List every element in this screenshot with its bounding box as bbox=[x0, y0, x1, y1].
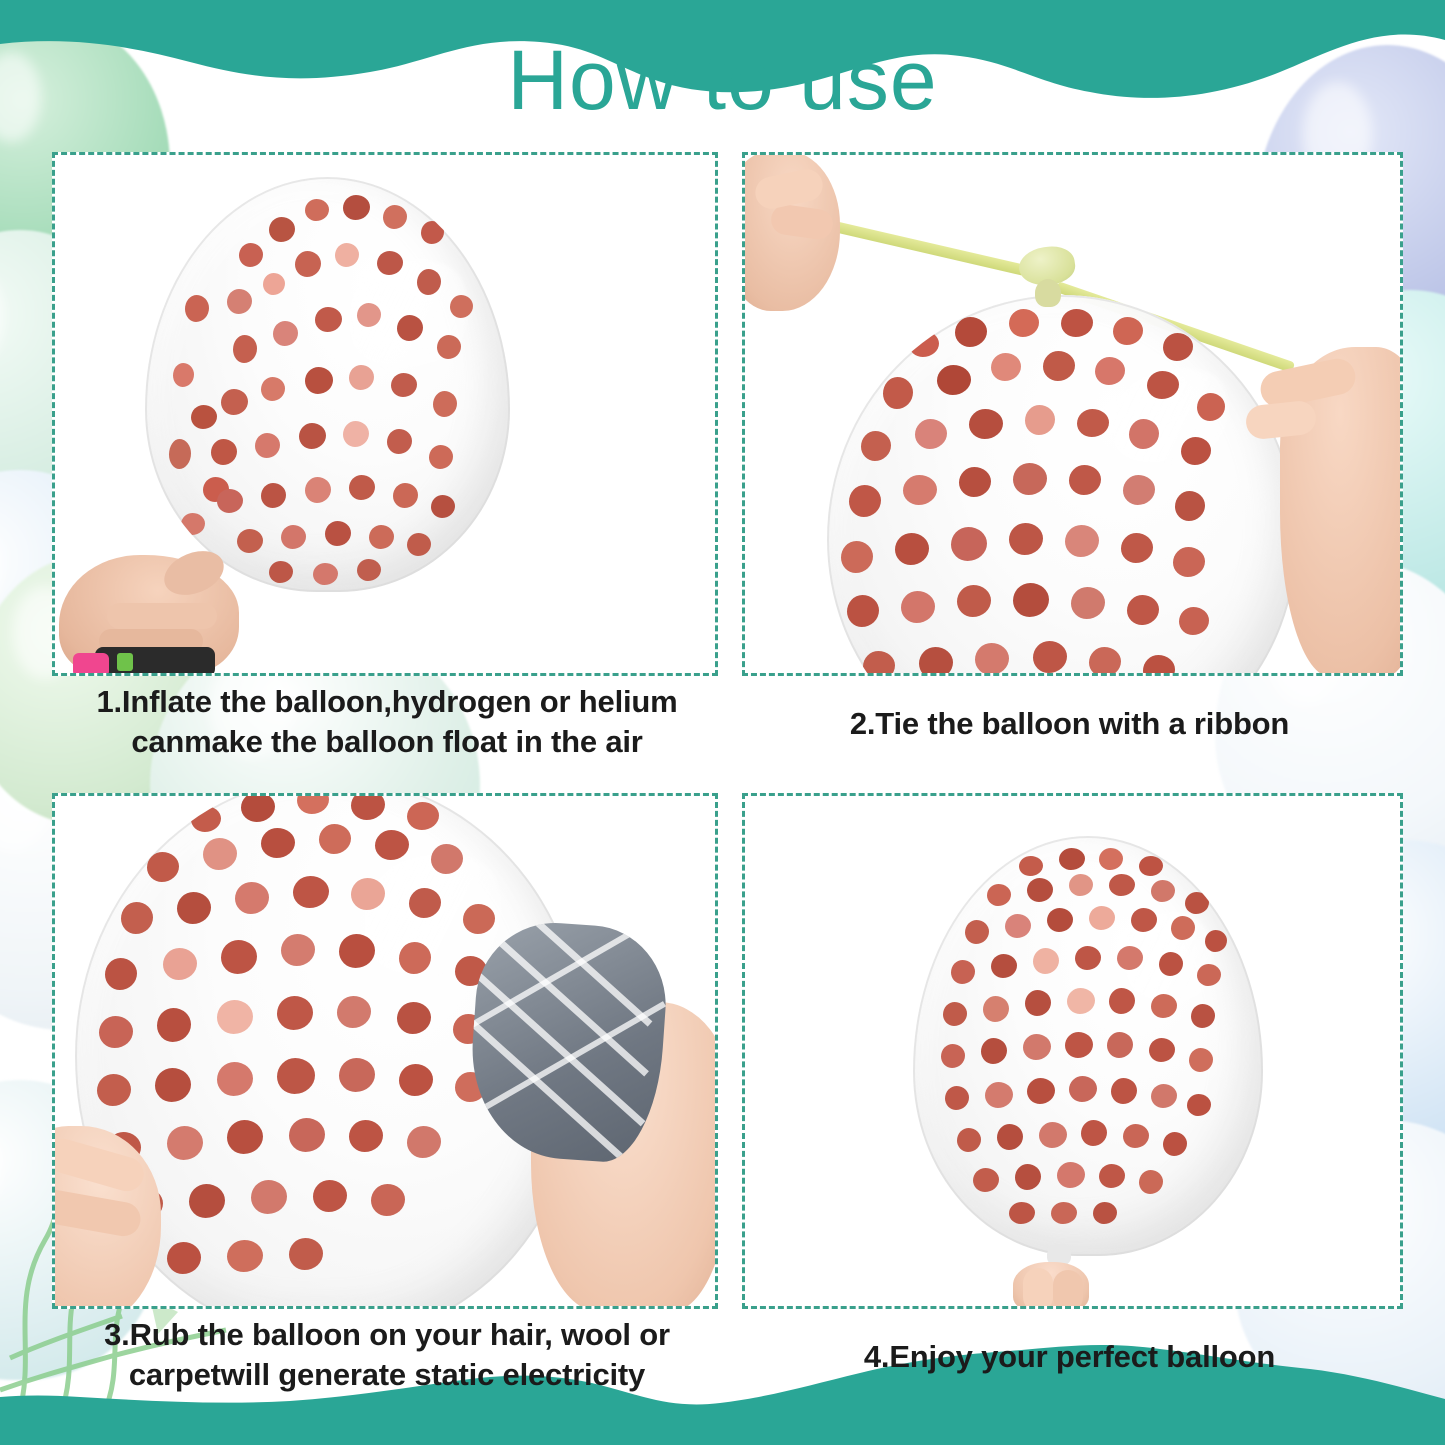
ribbon-left-segment bbox=[816, 217, 1043, 279]
confetti-balloon bbox=[827, 295, 1297, 676]
step-2-photo bbox=[742, 152, 1403, 676]
step-1-caption: 1.Inflate the balloon,hydrogen or helium… bbox=[42, 682, 732, 761]
step-4-photo bbox=[742, 793, 1403, 1309]
step-1-photo bbox=[52, 152, 718, 676]
how-to-use-infographic: How to use bbox=[0, 0, 1445, 1445]
step-1: 1.Inflate the balloon,hydrogen or helium… bbox=[52, 152, 712, 670]
balloon-neck bbox=[1035, 279, 1061, 307]
pump-accent bbox=[117, 653, 133, 671]
confetti-balloon bbox=[913, 836, 1263, 1256]
pink-grip bbox=[73, 653, 109, 676]
finger bbox=[107, 603, 217, 629]
pump-handle bbox=[95, 647, 215, 676]
step-2-caption-line-1: 2.Tie the balloon with a ribbon bbox=[742, 704, 1397, 744]
step-3-photo bbox=[52, 793, 718, 1309]
steps-grid: 1.Inflate the balloon,hydrogen or helium… bbox=[0, 0, 1445, 1445]
step-3: 3.Rub the balloon on your hair, wool or … bbox=[52, 793, 712, 1303]
confetti-balloon bbox=[145, 177, 510, 592]
step-1-caption-line-2: canmake the balloon float in the air bbox=[42, 722, 732, 762]
page-title: How to use bbox=[0, 38, 1445, 122]
step-2: 2.Tie the balloon with a ribbon bbox=[742, 152, 1397, 670]
step-3-caption-line-1: 3.Rub the balloon on your hair, wool or bbox=[42, 1315, 732, 1355]
step-1-caption-line-1: 1.Inflate the balloon,hydrogen or helium bbox=[42, 682, 732, 722]
step-4: 4.Enjoy your perfect balloon bbox=[742, 793, 1397, 1303]
step-4-caption: 4.Enjoy your perfect balloon bbox=[742, 1337, 1397, 1377]
step-2-caption: 2.Tie the balloon with a ribbon bbox=[742, 704, 1397, 744]
fingertip bbox=[1053, 1270, 1083, 1309]
step-4-caption-line-1: 4.Enjoy your perfect balloon bbox=[742, 1337, 1397, 1377]
step-3-caption-line-2: carpetwill generate static electricity bbox=[42, 1355, 732, 1395]
fingertip bbox=[1023, 1268, 1053, 1309]
step-3-caption: 3.Rub the balloon on your hair, wool or … bbox=[42, 1315, 732, 1394]
